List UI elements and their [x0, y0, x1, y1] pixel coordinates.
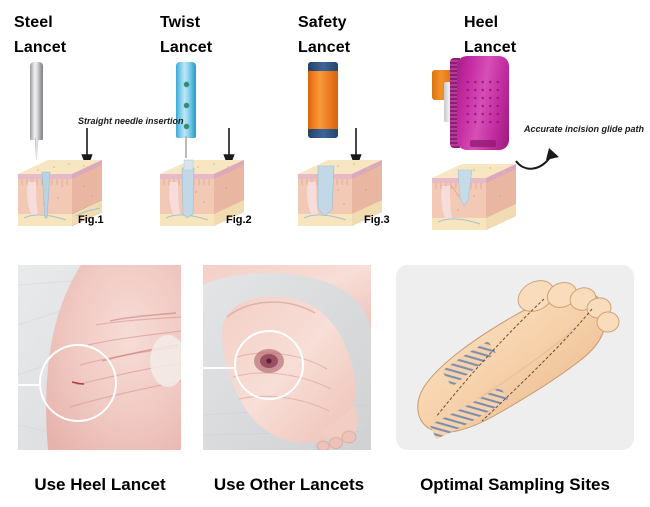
bruise-mark-circle: [254, 349, 284, 373]
fig-label-3: Fig.3: [364, 214, 390, 226]
column-title-safety: Safety Lancet: [298, 10, 350, 60]
diagram-sampling-sites: [396, 265, 634, 450]
column-title-steel: Steel Lancet: [14, 10, 66, 60]
infographic-canvas: Steel Lancet Twist Lancet Safety Lancet …: [0, 0, 650, 507]
annotation-glide-path: Accurate incision glide path: [524, 124, 644, 134]
photo-heel-lancet-result: [18, 265, 181, 450]
column-title-heel: Heel Lancet: [464, 10, 516, 60]
annotation-straight-insertion: Straight needle insertion: [78, 116, 184, 126]
caption-sampling-sites: Optimal Sampling Sites: [390, 475, 640, 495]
steel-lancet-icon: [30, 62, 46, 162]
fig-label-1: Fig.1: [78, 214, 104, 226]
column-title-twist: Twist Lancet: [160, 10, 212, 60]
heel-lancet-icon: [432, 56, 512, 156]
photo-other-lancet-result: [203, 265, 371, 450]
caption-other-lancet-result: Use Other Lancets: [196, 475, 382, 495]
safety-lancet-icon: [308, 62, 340, 142]
glide-path-arrow: [516, 156, 551, 169]
caption-heel-lancet-result: Use Heel Lancet: [10, 475, 190, 495]
skin-block-heel: [428, 160, 520, 236]
fig-label-2: Fig.2: [226, 214, 252, 226]
twist-lancet-icon: [176, 62, 198, 162]
